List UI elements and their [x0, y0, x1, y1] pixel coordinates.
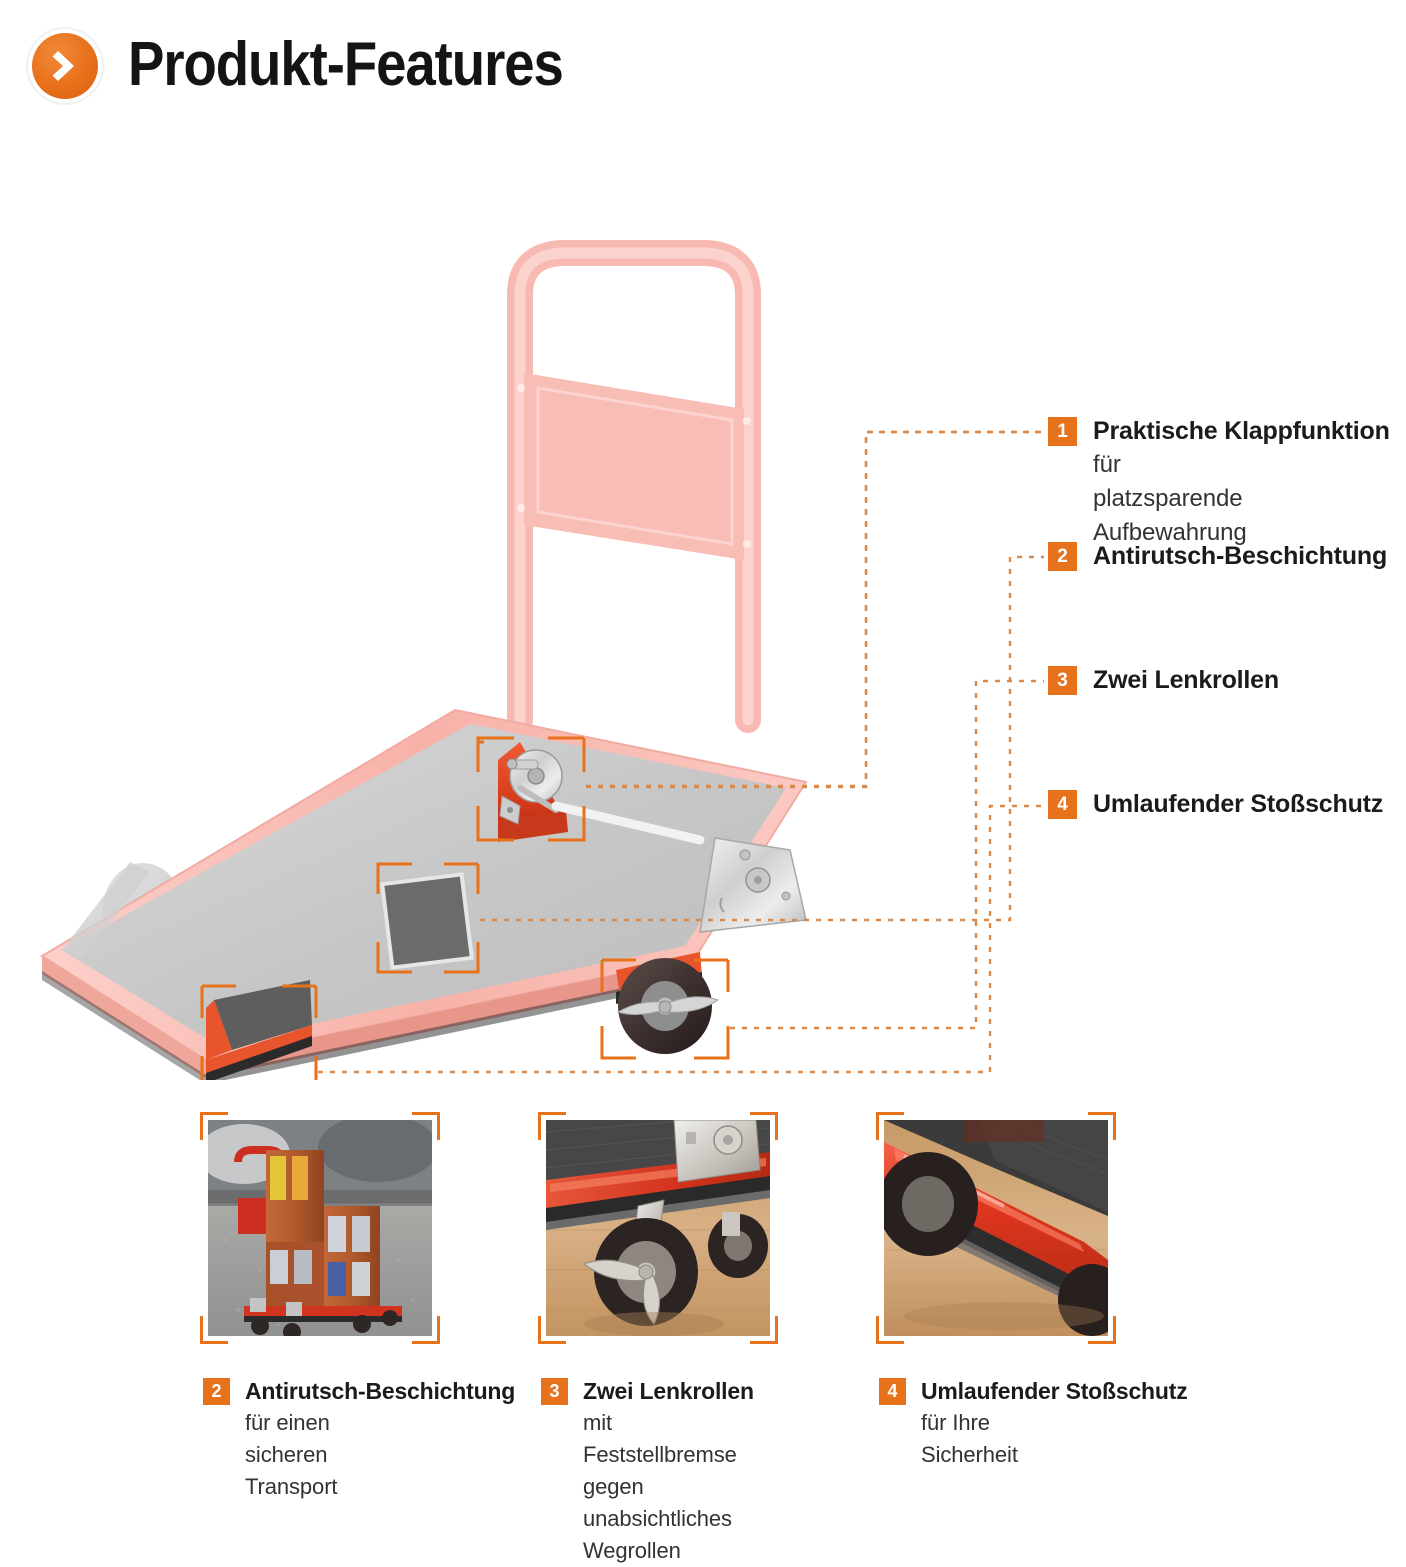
- thumbnail-image-bumper-edge[interactable]: [884, 1120, 1108, 1336]
- callout-1-subtitle: für platzsparende Aufbewahrung: [1093, 448, 1247, 550]
- thumb-corner-tl: [200, 1112, 228, 1140]
- page-header: Produkt-Features: [0, 0, 1406, 130]
- thumb-corner-tl: [538, 1112, 566, 1140]
- thumb-corner-bl: [200, 1316, 228, 1344]
- handle-panel: [517, 373, 751, 560]
- callout-1-badge: 1: [1048, 417, 1077, 446]
- caption-1-subtitle: für einen sicheren Transport: [245, 1407, 337, 1503]
- thumb-corner-tr: [1088, 1112, 1116, 1140]
- swivel-caster-with-brake: [616, 952, 718, 1054]
- callout-3-badge: 3: [1048, 666, 1077, 695]
- thumb-corner-br: [1088, 1316, 1116, 1344]
- page-title: Produkt-Features: [128, 30, 563, 100]
- thumbnail-block-lenkrollen[interactable]: [538, 1112, 778, 1344]
- caption-2-badge: 3: [541, 1378, 568, 1405]
- callout-2-title: Antirutsch-Beschichtung: [1093, 539, 1387, 573]
- callout-2-badge: 2: [1048, 542, 1077, 571]
- thumbnail-image-caster-brake[interactable]: [546, 1120, 770, 1336]
- caption-3-badge: 4: [879, 1378, 906, 1405]
- callout-1-title: Praktische Klappfunktion: [1093, 414, 1390, 448]
- thumb-corner-br: [750, 1316, 778, 1344]
- caption-3-subtitle: für Ihre Sicherheit: [921, 1407, 1018, 1471]
- thumbnail-image-trolley-with-crates[interactable]: [208, 1120, 432, 1336]
- thumb-corner-tr: [412, 1112, 440, 1140]
- thumb-corner-bl: [538, 1316, 566, 1344]
- antislip-pad-center: [380, 872, 474, 970]
- thumb-corner-bl: [876, 1316, 904, 1344]
- thumbnail-block-stossschutz[interactable]: [876, 1112, 1116, 1344]
- right-hinge-plate: [700, 838, 806, 932]
- callout-4-title: Umlaufender Stoßschutz: [1093, 787, 1383, 821]
- thumb-corner-br: [412, 1316, 440, 1344]
- callout-4-badge: 4: [1048, 790, 1077, 819]
- caption-2-subtitle: mit Feststellbremse gegen unabsichtliche…: [583, 1407, 737, 1567]
- caption-2-title: Zwei Lenkrollen: [583, 1375, 754, 1407]
- caption-1-title: Antirutsch-Beschichtung: [245, 1375, 515, 1407]
- thumb-corner-tr: [750, 1112, 778, 1140]
- caption-1-badge: 2: [203, 1378, 230, 1405]
- thumb-corner-tl: [876, 1112, 904, 1140]
- chevron-right-circle-icon: [32, 33, 98, 99]
- callout-3-title: Zwei Lenkrollen: [1093, 663, 1279, 697]
- caption-3-title: Umlaufender Stoßschutz: [921, 1375, 1188, 1407]
- thumbnail-block-antirutsch[interactable]: [200, 1112, 440, 1344]
- hero-illustration: [0, 120, 1406, 1080]
